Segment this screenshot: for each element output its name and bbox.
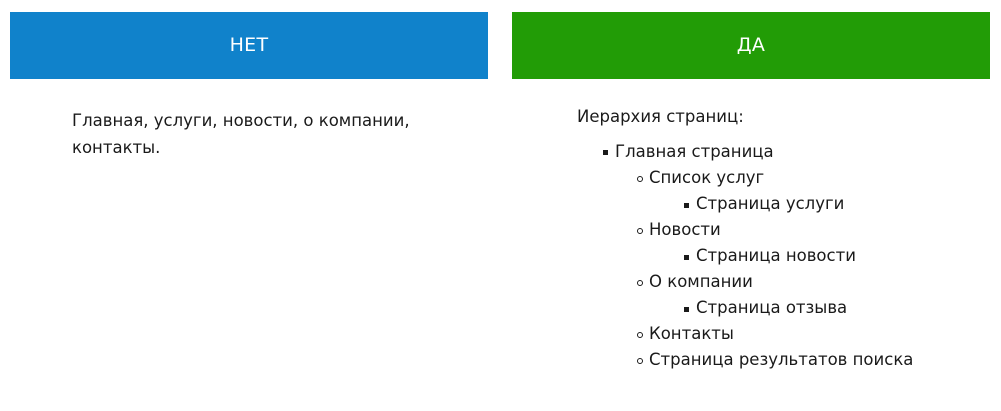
panel-body-yes: Иерархия страниц: Главная страница Списо… — [512, 79, 990, 373]
hierarchy-title: Иерархия страниц: — [577, 107, 990, 127]
circle-bullet-icon — [637, 358, 643, 364]
panel-negative-example: НЕТ Главная, услуги, новости, о компании… — [0, 0, 500, 411]
square-bullet-icon — [684, 307, 689, 312]
panel-body-no: Главная, услуги, новости, о компании, ко… — [10, 79, 488, 161]
flat-page-list-text: Главная, услуги, новости, о компании, ко… — [72, 107, 422, 161]
tree-item-label: Страница результатов поиска — [649, 350, 913, 369]
tree-item: Список услуг — [577, 165, 990, 191]
comparison-container: НЕТ Главная, услуги, новости, о компании… — [0, 0, 1001, 411]
tree-item-label: Список услуг — [649, 168, 764, 187]
tree-item: О компании — [577, 269, 990, 295]
tree-item-label: Новости — [649, 220, 721, 239]
tree-item: Страница результатов поиска — [577, 347, 990, 373]
panel-header-yes: ДА — [512, 12, 990, 79]
square-bullet-icon — [603, 150, 608, 155]
tree-item: Страница услуги — [577, 191, 990, 217]
tree-item-label: Контакты — [649, 324, 734, 343]
square-bullet-icon — [684, 203, 689, 208]
circle-bullet-icon — [637, 332, 643, 338]
tree-item-label: Страница услуги — [696, 194, 844, 213]
circle-bullet-icon — [637, 280, 643, 286]
square-bullet-icon — [684, 255, 689, 260]
tree-item-label: Главная страница — [615, 142, 774, 161]
tree-item-label: Страница новости — [696, 246, 856, 265]
tree-item: Контакты — [577, 321, 990, 347]
panel-positive-example: ДА Иерархия страниц: Главная страница Сп… — [500, 0, 1001, 411]
tree-item-label: О компании — [649, 272, 753, 291]
circle-bullet-icon — [637, 228, 643, 234]
tree-item: Страница отзыва — [577, 295, 990, 321]
circle-bullet-icon — [637, 176, 643, 182]
tree-item: Страница новости — [577, 243, 990, 269]
tree-item-label: Страница отзыва — [696, 298, 847, 317]
tree-item: Главная страница — [577, 139, 990, 165]
panel-header-no: НЕТ — [10, 12, 488, 79]
tree-item: Новости — [577, 217, 990, 243]
page-hierarchy-tree: Главная страница Список услуг Страница у… — [577, 139, 990, 373]
